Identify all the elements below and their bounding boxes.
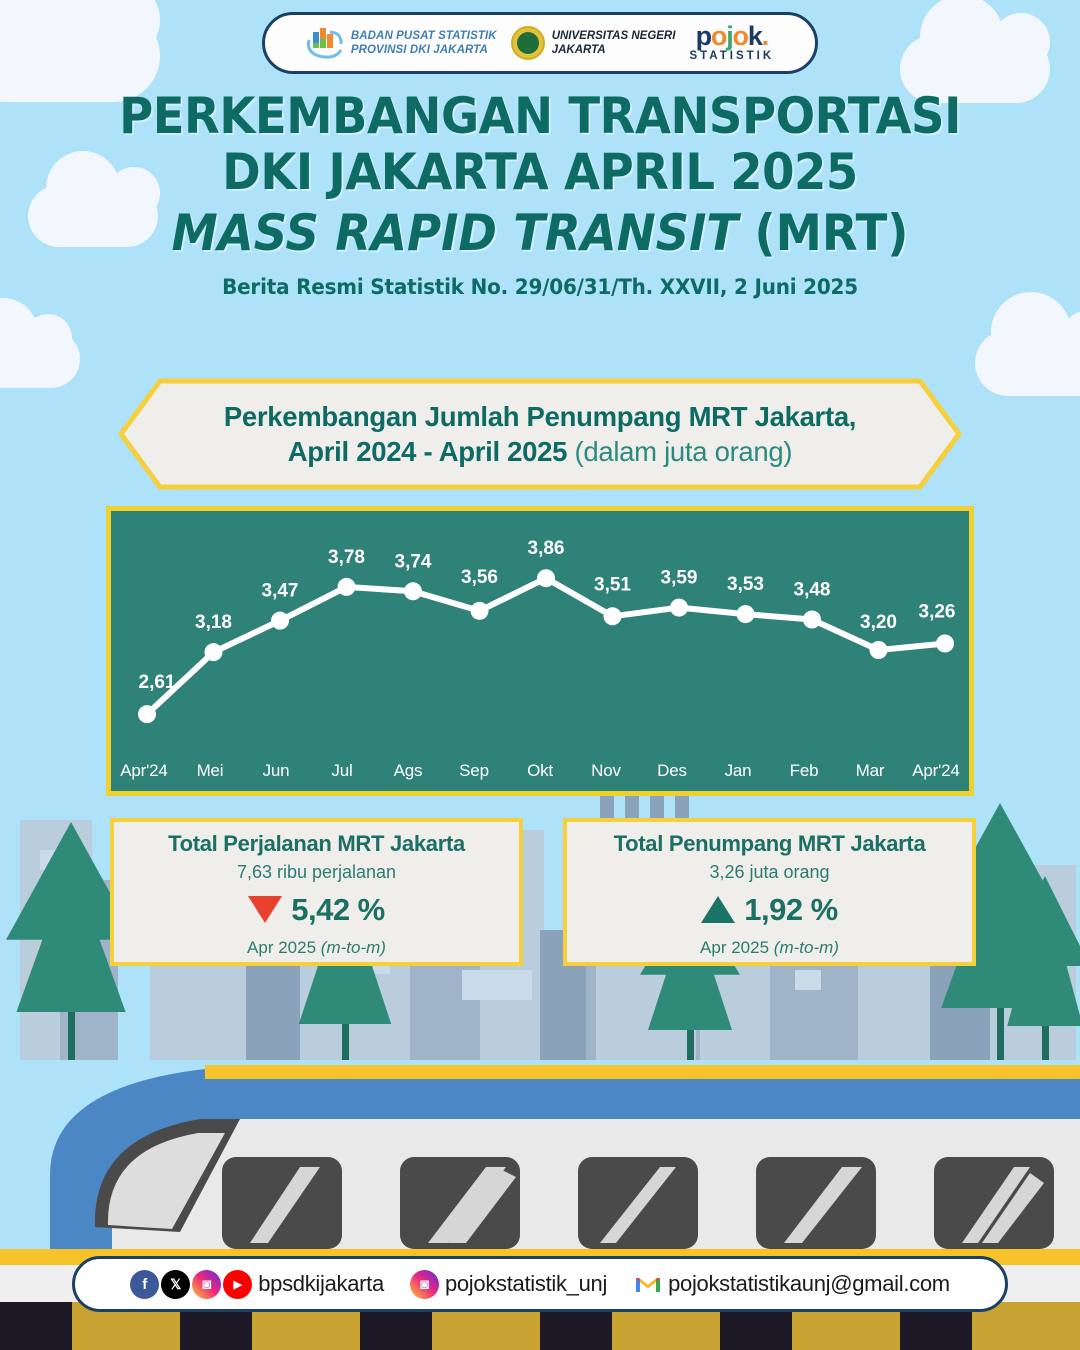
chart-data-label: 3,47 (262, 581, 299, 602)
pojok-statistik-logo: pojok. STATISTIK (689, 23, 774, 63)
handle-pojokstatistik[interactable]: pojokstatistik_unj (445, 1271, 607, 1297)
bps-social-group: f 𝕏 ◙ ▶ bpsdkijakarta (130, 1270, 384, 1299)
handle-bpsdkijakarta[interactable]: bpsdkijakarta (258, 1271, 384, 1297)
chart-x-tick: Jul (309, 761, 375, 781)
cloud-icon (975, 330, 1080, 396)
chart-data-point (338, 578, 356, 596)
bps-logo-icon (306, 26, 344, 60)
chart-data-label: 3,59 (661, 568, 698, 589)
x-twitter-icon[interactable]: 𝕏 (161, 1270, 190, 1299)
chart-data-label: 3,18 (195, 612, 232, 633)
chart-data-label: 3,86 (528, 538, 565, 559)
chart-data-label: 3,53 (727, 574, 764, 595)
unj-line-1: UNIVERSITAS NEGERI (552, 29, 676, 43)
chart-data-label: 2,61 (139, 672, 176, 693)
arrow-up-icon (701, 896, 735, 923)
arrow-down-icon (248, 896, 282, 923)
chart-data-label: 3,56 (461, 567, 498, 588)
chart-data-point (737, 605, 755, 623)
card-percent-row: 1,92 % (701, 892, 838, 928)
card-percent-value: 1,92 % (744, 892, 838, 928)
chart-x-tick: Jun (243, 761, 309, 781)
chart-x-tick: Mar (837, 761, 903, 781)
facebook-icon[interactable]: f (130, 1270, 159, 1299)
logo-bar: BADAN PUSAT STATISTIK PROVINSI DKI JAKAR… (262, 12, 818, 74)
page-title-line-2: DKI JAKARTA APRIL 2025 (38, 144, 1042, 200)
unj-logo: UNIVERSITAS NEGERI JAKARTA (511, 26, 676, 60)
page-title-line-1: PERKEMBANGAN TRANSPORTASI (38, 88, 1042, 144)
bps-line-2: PROVINSI DKI JAKARTA (351, 43, 497, 57)
card-footer-note: (m-to-m) (321, 938, 386, 957)
youtube-icon[interactable]: ▶ (223, 1270, 252, 1299)
pojok-social-group: ◙ pojokstatistik_unj (410, 1270, 607, 1299)
bps-logo: BADAN PUSAT STATISTIK PROVINSI DKI JAKAR… (306, 26, 497, 60)
card-footer: Apr 2025 (m-to-m) (247, 938, 386, 958)
chart-data-point (404, 582, 422, 600)
bps-line-1: BADAN PUSAT STATISTIK (351, 29, 497, 43)
chart-data-label: 3,48 (794, 580, 831, 601)
chart-x-tick: Jan (705, 761, 771, 781)
chart-data-point (936, 634, 954, 652)
card-title: Total Penumpang MRT Jakarta (614, 831, 926, 857)
chart-x-tick: Mei (177, 761, 243, 781)
card-footer-period: Apr 2025 (700, 938, 774, 957)
card-percent-row: 5,42 % (248, 892, 385, 928)
page-title-mrt: (MRT) (738, 204, 908, 262)
chart-x-tick: Sep (441, 761, 507, 781)
chart-x-tick: Apr'24 (111, 761, 177, 781)
chart-data-point (271, 612, 289, 630)
social-footer-bar: f 𝕏 ◙ ▶ bpsdkijakarta ◙ pojokstatistik_u… (72, 1256, 1008, 1312)
banner-line-1: Perkembangan Jumlah Penumpang MRT Jakart… (224, 401, 856, 433)
banner-line-2: April 2024 - April 2025 (dalam juta oran… (288, 436, 793, 468)
chart-data-label: 3,78 (328, 547, 365, 568)
chart-data-point (205, 643, 223, 661)
cloud-icon (0, 330, 80, 388)
instagram-icon[interactable]: ◙ (410, 1270, 439, 1299)
chart-x-axis: Apr'24MeiJunJulAgsSepOktNovDesJanFebMarA… (111, 757, 969, 785)
unj-seal-icon (511, 26, 545, 60)
banner-period: April 2024 - April 2025 (288, 436, 567, 467)
card-title: Total Perjalanan MRT Jakarta (168, 831, 465, 857)
unj-logo-text: UNIVERSITAS NEGERI JAKARTA (552, 29, 676, 58)
pojok-subtext: STATISTIK (689, 51, 774, 63)
chart-data-point (670, 599, 688, 617)
stat-card-perjalanan: Total Perjalanan MRT Jakarta 7,63 ribu p… (110, 818, 523, 966)
chart-x-tick: Okt (507, 761, 573, 781)
passenger-line-chart: 2,613,183,473,783,743,563,863,513,593,53… (106, 506, 974, 796)
email-address[interactable]: pojokstatistikaunj@gmail.com (668, 1271, 950, 1297)
chart-data-point (471, 602, 489, 620)
card-subvalue: 7,63 ribu perjalanan (237, 862, 396, 883)
chart-data-point (604, 607, 622, 625)
chart-data-point (537, 569, 555, 587)
chart-data-label: 3,74 (395, 551, 432, 572)
chart-x-tick: Des (639, 761, 705, 781)
title-block: PERKEMBANGAN TRANSPORTASI DKI JAKARTA AP… (0, 88, 1080, 299)
card-footer-period: Apr 2025 (247, 938, 321, 957)
chart-data-point (803, 611, 821, 629)
gmail-icon[interactable] (633, 1270, 662, 1299)
page-subtitle: Berita Resmi Statistik No. 29/06/31/Th. … (27, 275, 1053, 299)
card-footer-note: (m-to-m) (774, 938, 839, 957)
unj-line-2: JAKARTA (552, 43, 676, 57)
social-icon-set: f 𝕏 ◙ ▶ (130, 1270, 252, 1299)
chart-data-label: 3,26 (919, 601, 956, 622)
banner-unit: (dalam juta orang) (567, 436, 792, 467)
card-subvalue: 3,26 juta orang (709, 862, 829, 883)
page-title-italic: MASS RAPID TRANSIT (171, 204, 738, 262)
chart-data-point (138, 705, 156, 723)
chart-data-point (870, 641, 888, 659)
pojok-wordmark: pojok. (696, 23, 768, 50)
chart-x-tick: Apr'24 (903, 761, 969, 781)
bps-logo-text: BADAN PUSAT STATISTIK PROVINSI DKI JAKAR… (351, 29, 497, 58)
chart-x-tick: Feb (771, 761, 837, 781)
chart-banner: Perkembangan Jumlah Penumpang MRT Jakart… (118, 378, 962, 490)
chart-data-label: 3,20 (860, 612, 897, 633)
chart-data-label: 3,51 (594, 574, 631, 595)
chart-x-tick: Ags (375, 761, 441, 781)
instagram-icon[interactable]: ◙ (192, 1270, 221, 1299)
card-percent-value: 5,42 % (291, 892, 385, 928)
stat-card-penumpang: Total Penumpang MRT Jakarta 3,26 juta or… (563, 818, 976, 966)
chart-x-tick: Nov (573, 761, 639, 781)
page-title-line-3: MASS RAPID TRANSIT (MRT) (38, 204, 1042, 263)
card-footer: Apr 2025 (m-to-m) (700, 938, 839, 958)
email-group: pojokstatistikaunj@gmail.com (633, 1270, 950, 1299)
